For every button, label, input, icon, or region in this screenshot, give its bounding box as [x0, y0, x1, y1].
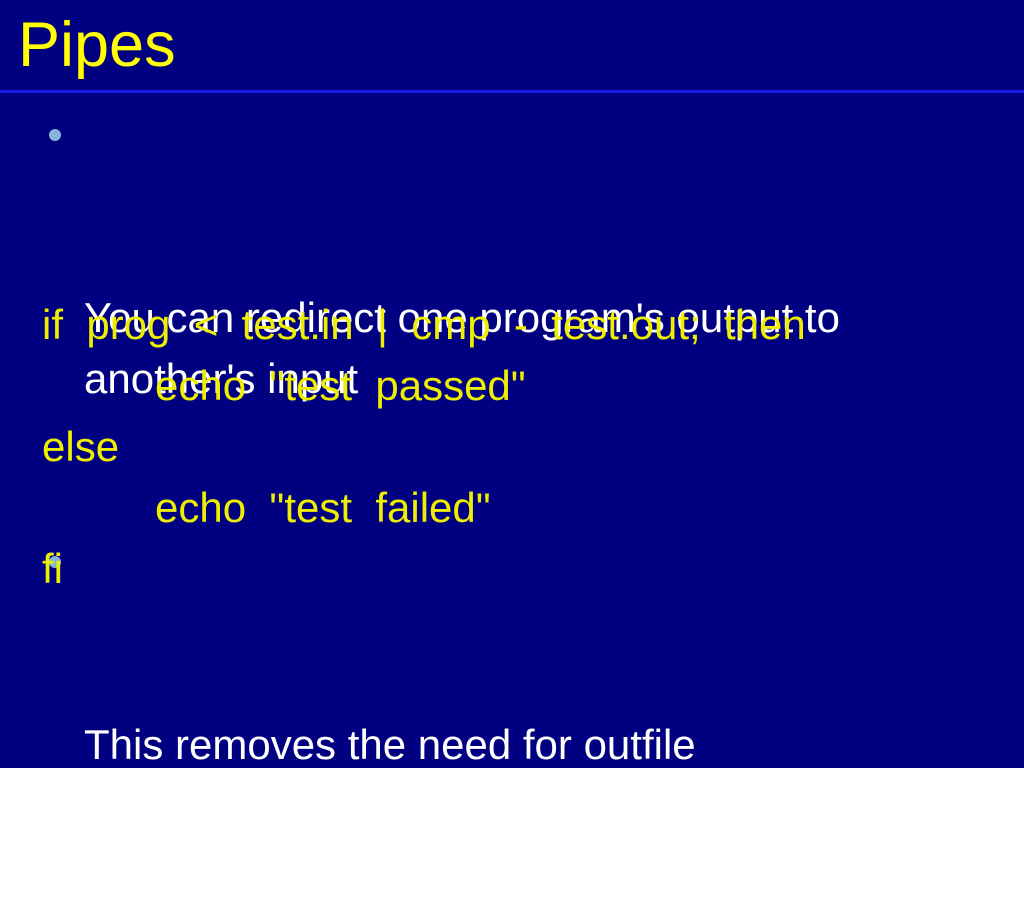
title-divider	[0, 90, 1024, 93]
code-line: else	[42, 416, 1022, 477]
code-line: echo "test passed"	[42, 355, 1022, 416]
code-block: if prog < test.in | cmp - test.out; then…	[42, 294, 1022, 599]
code-line: echo "test failed"	[42, 477, 1022, 538]
slide: Pipes You can redirect one program's out…	[0, 0, 1024, 768]
code-line: if prog < test.in | cmp - test.out; then	[42, 294, 1022, 355]
bullet-item-label: This removes the need for outfile	[84, 714, 1020, 775]
page-title: Pipes	[18, 2, 176, 88]
code-line: fi	[42, 538, 1022, 599]
bullet-dot-icon	[49, 129, 61, 141]
